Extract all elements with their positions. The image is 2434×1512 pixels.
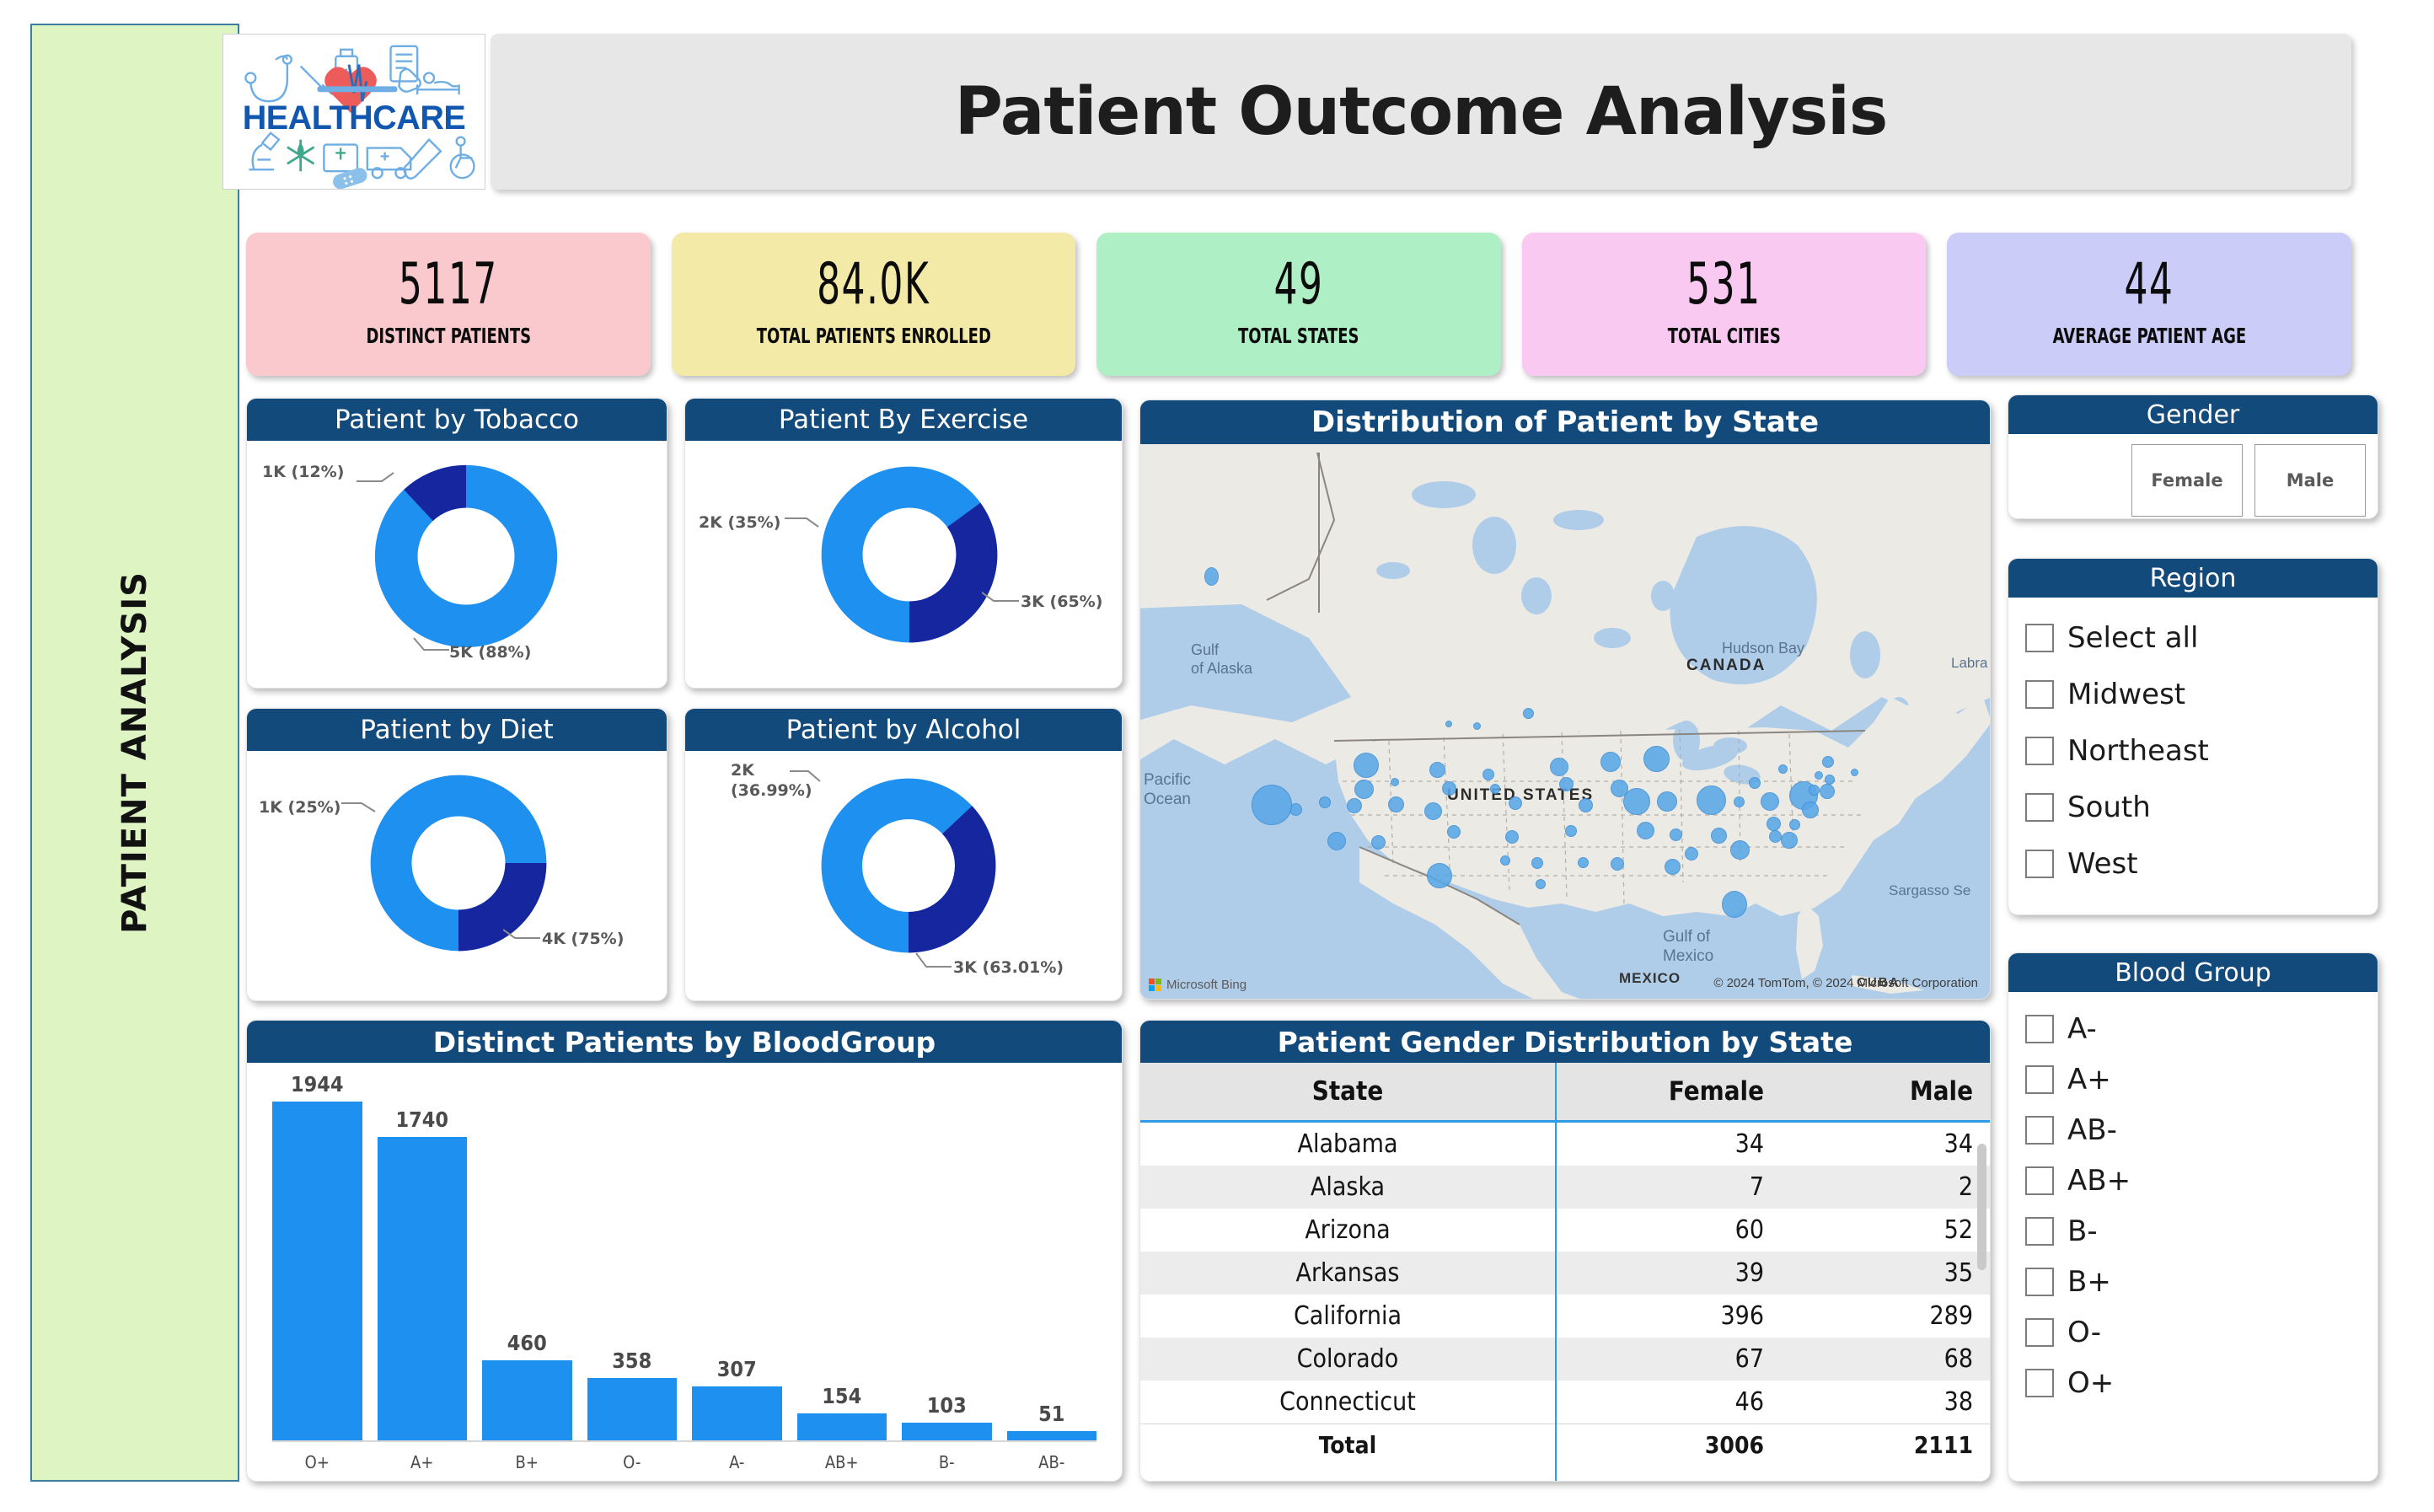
- map-bubble[interactable]: [1711, 828, 1727, 844]
- donut-svg: [816, 773, 1001, 958]
- kpi-row: 5117 DISTINCT PATIENTS 84.0K TOTAL PATIE…: [246, 233, 2351, 376]
- leader-line-icon: [982, 591, 1022, 608]
- table: State Female Male Alabama 34 34 Alaska 7…: [1140, 1063, 1991, 1466]
- chart-card-patient-by-diet[interactable]: Patient by Diet 1K (25%) 4K (75%): [246, 708, 667, 1001]
- bar-rect[interactable]: [482, 1360, 572, 1440]
- slicer-option-label: Select all: [2067, 624, 2198, 652]
- region-slicer-options: Select all Midwest Northeast South West: [2008, 598, 2378, 900]
- table-row[interactable]: California 396 289: [1140, 1295, 1991, 1338]
- bar-value-label: 1740: [378, 1107, 468, 1132]
- cell-male: 289: [1783, 1295, 1991, 1338]
- chart-card-patient-by-tobacco[interactable]: Patient by Tobacco 1K (12%) 5K (88%): [246, 398, 667, 689]
- map-bubble[interactable]: [1670, 828, 1682, 841]
- map-bubble[interactable]: [1578, 857, 1589, 868]
- healthcare-logo: HEALTHCARE: [222, 34, 485, 190]
- map-bubble[interactable]: [1802, 802, 1819, 818]
- map-bubble[interactable]: [1769, 830, 1782, 843]
- slicer-option-ab-neg[interactable]: AB-: [2025, 1105, 2378, 1155]
- slicer-option-west[interactable]: West: [2025, 835, 2378, 892]
- slicer-card-gender[interactable]: Gender Female Male: [2008, 394, 2378, 519]
- table-column-divider: [1555, 1063, 1557, 1481]
- bar-tick-label: A+: [378, 1452, 468, 1472]
- checkbox-icon[interactable]: [2025, 737, 2054, 765]
- kpi-label: TOTAL CITIES: [1668, 324, 1781, 348]
- map-bubble[interactable]: [1665, 859, 1681, 875]
- donut-label-minor: 1K (25%): [259, 798, 340, 818]
- donut-label-major: 3K (65%): [1021, 592, 1102, 613]
- donut-svg: [369, 459, 563, 653]
- map-bubble[interactable]: [1767, 817, 1781, 831]
- cell-state: Connecticut: [1140, 1381, 1555, 1424]
- map-bubble[interactable]: [1445, 721, 1452, 727]
- cell-female: 39: [1555, 1252, 1783, 1295]
- cell-state: Alabama: [1140, 1122, 1555, 1166]
- chart-card-distribution-of-patient-by-state[interactable]: Distribution of Patient by State: [1139, 399, 1991, 1000]
- map-provider-label: Microsoft Bing: [1166, 978, 1246, 992]
- slicer-option-b-pos[interactable]: B+: [2025, 1257, 2378, 1307]
- map-bubble[interactable]: [1611, 857, 1624, 871]
- bar-column[interactable]: 307: [692, 1083, 782, 1440]
- checkbox-icon[interactable]: [2025, 1217, 2054, 1246]
- map-bubble[interactable]: [1579, 798, 1593, 812]
- cell-female: 67: [1555, 1338, 1783, 1381]
- map-bubble[interactable]: [1531, 857, 1543, 869]
- cell-male: 52: [1783, 1209, 1991, 1252]
- map-bubble[interactable]: [1722, 891, 1747, 918]
- chart-card-patient-by-alcohol[interactable]: Patient by Alcohol 2K (36.99%) 3K (63.01…: [684, 708, 1123, 1001]
- bar-tick-label: AB-: [1007, 1452, 1097, 1472]
- map-bubble[interactable]: [1815, 771, 1823, 780]
- donut-svg: [816, 461, 1003, 648]
- leader-line-icon: [357, 471, 397, 488]
- table-card-patient-gender-distribution-by-state[interactable]: Patient Gender Distribution by State Sta…: [1139, 1020, 1991, 1482]
- donut-label-major: 4K (75%): [542, 930, 624, 950]
- kpi-value: 44: [2125, 256, 2174, 314]
- column-header-female[interactable]: Female: [1555, 1063, 1783, 1122]
- map-bubble[interactable]: [1565, 825, 1577, 837]
- cell-state: California: [1140, 1295, 1555, 1338]
- card-title: Patient Gender Distribution by State: [1140, 1021, 1990, 1063]
- kpi-card-total-patients-enrolled[interactable]: 84.0K TOTAL PATIENTS ENROLLED: [672, 233, 1076, 376]
- kpi-label: AVERAGE PATIENT AGE: [2052, 324, 2245, 348]
- slicer-option-label: West: [2067, 850, 2138, 878]
- map-bubble[interactable]: [1388, 796, 1404, 812]
- kpi-card-total-cities[interactable]: 531 TOTAL CITIES: [1522, 233, 1927, 376]
- bar-value-label: 358: [587, 1348, 678, 1373]
- slicer-option-a-pos[interactable]: A+: [2025, 1054, 2378, 1105]
- table-row[interactable]: Arizona 60 52: [1140, 1209, 1991, 1252]
- map-bubble[interactable]: [1559, 777, 1574, 791]
- card-title: Patient by Diet: [247, 709, 667, 751]
- kpi-value: 531: [1686, 256, 1761, 314]
- map-bubble[interactable]: [1789, 819, 1800, 830]
- slicer-option-label: A+: [2067, 1065, 2111, 1094]
- checkbox-icon[interactable]: [2025, 624, 2054, 652]
- cell-female: 60: [1555, 1209, 1783, 1252]
- slicer-option-b-neg[interactable]: B-: [2025, 1206, 2378, 1257]
- map-bubble[interactable]: [1820, 784, 1835, 799]
- table-total-row: Total 3006 2111: [1140, 1424, 1991, 1466]
- map-bubble[interactable]: [1319, 796, 1331, 808]
- checkbox-icon[interactable]: [2025, 1268, 2054, 1296]
- bar-value-label: 307: [692, 1357, 782, 1381]
- bar-value-label: 460: [482, 1331, 572, 1355]
- checkbox-icon[interactable]: [2025, 850, 2054, 878]
- slicer-option-label: South: [2067, 793, 2151, 822]
- map-bubble[interactable]: [1482, 769, 1494, 780]
- table-scrollbar[interactable]: [1977, 1144, 1986, 1270]
- bing-logo-icon: [1149, 979, 1161, 991]
- map-bubble[interactable]: [1429, 762, 1445, 778]
- slicer-option-northeast[interactable]: Northeast: [2025, 722, 2378, 779]
- donut-label-minor: 1K (12%): [262, 463, 344, 483]
- checkbox-icon[interactable]: [2025, 1116, 2054, 1145]
- slicer-card-region[interactable]: Region Select all Midwest Northeast Sout…: [2008, 558, 2378, 915]
- checkbox-icon[interactable]: [2025, 793, 2054, 822]
- map-bubble[interactable]: [1697, 785, 1726, 815]
- slicer-option-label: AB-: [2067, 1116, 2117, 1145]
- donut-chart-diet[interactable]: 1K (25%) 4K (75%): [247, 751, 667, 1000]
- bar-axis-line: [272, 1440, 1096, 1442]
- bar-tick-label: B+: [482, 1452, 572, 1472]
- map-bubble[interactable]: [1637, 822, 1654, 839]
- bar-value-label: 1944: [272, 1072, 362, 1096]
- map-bubble[interactable]: [1643, 746, 1670, 772]
- bar-tick-label: A-: [692, 1452, 782, 1472]
- svg-text:HEALTHCARE: HEALTHCARE: [243, 99, 466, 137]
- map-bubble[interactable]: [1809, 785, 1820, 796]
- map-bubble[interactable]: [1749, 777, 1761, 789]
- checkbox-icon[interactable]: [2025, 1065, 2054, 1094]
- checkbox-icon[interactable]: [2025, 1318, 2054, 1347]
- cell-male: 2: [1783, 1166, 1991, 1209]
- slicer-option-label: Northeast: [2067, 737, 2209, 765]
- map-bubble[interactable]: [1657, 791, 1677, 812]
- slicer-option-label: O-: [2067, 1318, 2101, 1347]
- bar-column[interactable]: 1944: [272, 1083, 362, 1440]
- donut-label-minor: 2K (35%): [699, 513, 780, 533]
- sidebar-title: PATIENT ANALYSIS: [115, 571, 154, 934]
- map-label-mexico: MEXICO: [1619, 970, 1681, 987]
- bar-tick-label: B-: [902, 1452, 992, 1472]
- slicer-title: Gender: [2008, 395, 2378, 434]
- cell-total-label: Total: [1140, 1424, 1555, 1466]
- bar-column[interactable]: 460: [482, 1083, 572, 1440]
- donut-chart-exercise[interactable]: 2K (35%) 3K (65%): [685, 441, 1122, 688]
- leader-line-icon: [412, 636, 453, 657]
- card-title: Distinct Patients by BloodGroup: [247, 1021, 1122, 1063]
- slicer-option-midwest[interactable]: Midwest: [2025, 666, 2378, 722]
- map-bubble[interactable]: [1505, 830, 1519, 844]
- map-bubble[interactable]: [1252, 785, 1292, 825]
- table-row[interactable]: Connecticut 46 38: [1140, 1381, 1991, 1424]
- donut-label-major: 5K (88%): [449, 643, 531, 663]
- kpi-label: TOTAL PATIENTS ENROLLED: [756, 324, 990, 348]
- cell-state: Arkansas: [1140, 1252, 1555, 1295]
- bar-rect[interactable]: [1007, 1431, 1097, 1440]
- blood-group-slicer-options: A- A+ AB- AB+ B- B+: [2008, 992, 2378, 1417]
- map-basemap-icon: [1140, 444, 1990, 999]
- map-bubble[interactable]: [1347, 798, 1362, 813]
- leader-line-icon: [503, 928, 544, 945]
- cell-total-male: 2111: [1783, 1424, 1991, 1466]
- cell-female: 34: [1555, 1122, 1783, 1166]
- bar-tick-label: O-: [587, 1452, 678, 1472]
- page-title-bar: Patient Outcome Analysis: [491, 34, 2351, 190]
- chart-card-distinct-patients-by-bloodgroup[interactable]: Distinct Patients by BloodGroup 1944 174…: [246, 1020, 1123, 1482]
- patient-gender-table[interactable]: State Female Male Alabama 34 34 Alaska 7…: [1140, 1063, 1990, 1481]
- slicer-title: Blood Group: [2008, 953, 2378, 992]
- slicer-option-a-neg[interactable]: A-: [2025, 1004, 2378, 1054]
- card-title: Distribution of Patient by State: [1140, 400, 1990, 444]
- bar-value-label: 51: [1007, 1402, 1097, 1426]
- cell-state: Colorado: [1140, 1338, 1555, 1381]
- cell-male: 38: [1783, 1381, 1991, 1424]
- bar-column[interactable]: 51: [1007, 1083, 1097, 1440]
- slicer-option-label: AB+: [2067, 1166, 2131, 1195]
- map-bubble[interactable]: [1734, 796, 1745, 807]
- leader-line-icon: [914, 952, 955, 972]
- map-bubble[interactable]: [1327, 832, 1346, 850]
- cell-male: 35: [1783, 1252, 1991, 1295]
- bar-rect[interactable]: [587, 1378, 678, 1440]
- leader-line-icon: [341, 800, 378, 817]
- column-header-male[interactable]: Male: [1783, 1063, 1991, 1122]
- checkbox-icon[interactable]: [2025, 680, 2054, 709]
- map-bubble[interactable]: [1447, 825, 1461, 839]
- map-bubble[interactable]: [1600, 752, 1621, 772]
- cell-total-female: 3006: [1555, 1424, 1783, 1466]
- cell-female: 396: [1555, 1295, 1783, 1338]
- slicer-title: Region: [2008, 559, 2378, 598]
- healthcare-logo-icon: HEALTHCARE: [223, 35, 485, 189]
- cell-state: Arizona: [1140, 1209, 1555, 1252]
- map-bubble[interactable]: [1778, 764, 1788, 774]
- bar-column[interactable]: 1740: [378, 1083, 468, 1440]
- kpi-value: 84.0K: [817, 256, 930, 314]
- slicer-option-ab-pos[interactable]: AB+: [2025, 1155, 2378, 1206]
- map-bubble[interactable]: [1851, 769, 1858, 776]
- dashboard-canvas: PATIENT ANALYSIS: [0, 0, 2434, 1512]
- bar-value-label: 154: [797, 1384, 887, 1408]
- slicer-option-label: B-: [2067, 1217, 2098, 1246]
- map-bubble[interactable]: [1354, 780, 1374, 799]
- map-bubble[interactable]: [1730, 840, 1750, 860]
- bar-rect[interactable]: [272, 1102, 362, 1440]
- leader-line-icon: [785, 515, 822, 532]
- bar-axis-ticks: O+ A+ B+ O- A- AB+ B- AB-: [272, 1452, 1096, 1472]
- column-header-state[interactable]: State: [1140, 1063, 1555, 1122]
- map-bubble[interactable]: [1424, 802, 1442, 820]
- kpi-value: 5117: [399, 256, 498, 314]
- donut-label-minor-line1: 2K: [731, 761, 754, 780]
- map-attribution-copyright: © 2024 TomTom, © 2024 Microsoft Corporat…: [1713, 976, 1978, 990]
- gender-slicer-options: Female Male: [2008, 434, 2378, 519]
- kpi-value: 49: [1274, 256, 1324, 314]
- map-bubble[interactable]: [1781, 832, 1798, 849]
- sidebar-panel: PATIENT ANALYSIS: [30, 24, 239, 1482]
- slicer-option-male[interactable]: Male: [2254, 444, 2366, 517]
- table-row[interactable]: Alaska 7 2: [1140, 1166, 1991, 1209]
- bar-chart-bloodgroup[interactable]: 1944 1740 460 358 307: [247, 1063, 1122, 1481]
- slicer-option-label: O+: [2067, 1369, 2114, 1397]
- table-row[interactable]: Alabama 34 34: [1140, 1122, 1991, 1166]
- chart-card-patient-by-exercise[interactable]: Patient By Exercise 2K (35%) 3K (65%): [684, 398, 1123, 689]
- map-bubble[interactable]: [1623, 788, 1650, 815]
- map-canvas[interactable]: Gulfof Alaska Hudson Bay CANADA Labra Pa…: [1140, 444, 1990, 999]
- donut-label-major: 3K (63.01%): [953, 958, 1064, 979]
- map-bubble[interactable]: [1761, 792, 1779, 811]
- slicer-option-label: Midwest: [2067, 680, 2185, 709]
- map-bubble[interactable]: [1442, 781, 1456, 796]
- card-title: Patient By Exercise: [685, 399, 1122, 441]
- map-bubble[interactable]: [1536, 879, 1546, 889]
- slicer-option-south[interactable]: South: [2025, 779, 2378, 835]
- kpi-card-total-states[interactable]: 49 TOTAL STATES: [1096, 233, 1501, 376]
- card-title: Patient by Alcohol: [685, 709, 1122, 751]
- bar-rect[interactable]: [797, 1413, 887, 1440]
- checkbox-icon[interactable]: [2025, 1369, 2054, 1397]
- kpi-label: TOTAL STATES: [1238, 324, 1359, 348]
- donut-chart-tobacco[interactable]: 1K (12%) 5K (88%): [247, 441, 667, 688]
- map-bubble[interactable]: [1204, 567, 1219, 586]
- bar-tick-label: O+: [272, 1452, 362, 1472]
- bar-column[interactable]: 103: [902, 1083, 992, 1440]
- slicer-option-o-pos[interactable]: O+: [2025, 1358, 2378, 1408]
- table-header-row: State Female Male: [1140, 1063, 1991, 1122]
- map-bubble[interactable]: [1500, 855, 1510, 866]
- bar-value-label: 103: [902, 1393, 992, 1418]
- bar-rect[interactable]: [902, 1423, 992, 1440]
- checkbox-icon[interactable]: [2025, 1166, 2054, 1195]
- kpi-label: DISTINCT PATIENTS: [366, 324, 531, 348]
- table-row[interactable]: Colorado 67 68: [1140, 1338, 1991, 1381]
- map-bubble[interactable]: [1523, 708, 1534, 719]
- cell-male: 68: [1783, 1338, 1991, 1381]
- bar-tick-label: AB+: [797, 1452, 887, 1472]
- kpi-card-distinct-patients[interactable]: 5117 DISTINCT PATIENTS: [246, 233, 651, 376]
- map-bubble[interactable]: [1371, 835, 1386, 850]
- map-bubble[interactable]: [1490, 784, 1500, 794]
- map-bubble[interactable]: [1822, 756, 1834, 768]
- bar-series: 1944 1740 460 358 307: [272, 1083, 1096, 1440]
- cell-female: 46: [1555, 1381, 1783, 1424]
- map-bubble[interactable]: [1509, 796, 1522, 810]
- map-bubble[interactable]: [1473, 722, 1481, 730]
- slicer-option-female[interactable]: Female: [2131, 444, 2243, 517]
- cell-state: Alaska: [1140, 1166, 1555, 1209]
- slicer-option-select-all[interactable]: Select all: [2025, 609, 2378, 666]
- kpi-card-average-patient-age[interactable]: 44 AVERAGE PATIENT AGE: [1947, 233, 2351, 376]
- cell-male: 34: [1783, 1122, 1991, 1166]
- slicer-card-blood-group[interactable]: Blood Group A- A+ AB- AB+ B-: [2008, 952, 2378, 1482]
- slicer-option-label: A-: [2067, 1015, 2097, 1043]
- map-attribution-provider: Microsoft Bing: [1149, 978, 1246, 992]
- checkbox-icon[interactable]: [2025, 1015, 2054, 1043]
- map-bubble[interactable]: [1427, 863, 1452, 888]
- bar-column[interactable]: 358: [587, 1083, 678, 1440]
- map-bubble[interactable]: [1550, 758, 1568, 776]
- leader-line-icon: [790, 768, 823, 786]
- bar-column[interactable]: 154: [797, 1083, 887, 1440]
- bar-rect[interactable]: [378, 1137, 468, 1440]
- bar-rect[interactable]: [692, 1386, 782, 1440]
- slicer-option-o-neg[interactable]: O-: [2025, 1307, 2378, 1358]
- table-row[interactable]: Arkansas 39 35: [1140, 1252, 1991, 1295]
- map-bubble[interactable]: [1391, 778, 1399, 786]
- card-title: Patient by Tobacco: [247, 399, 667, 441]
- cell-female: 7: [1555, 1166, 1783, 1209]
- map-bubble[interactable]: [1354, 753, 1379, 778]
- donut-chart-alcohol[interactable]: 2K (36.99%) 3K (63.01%): [685, 751, 1122, 1000]
- slicer-option-label: B+: [2067, 1268, 2111, 1296]
- map-bubble[interactable]: [1685, 847, 1698, 861]
- page-title: Patient Outcome Analysis: [955, 74, 1888, 150]
